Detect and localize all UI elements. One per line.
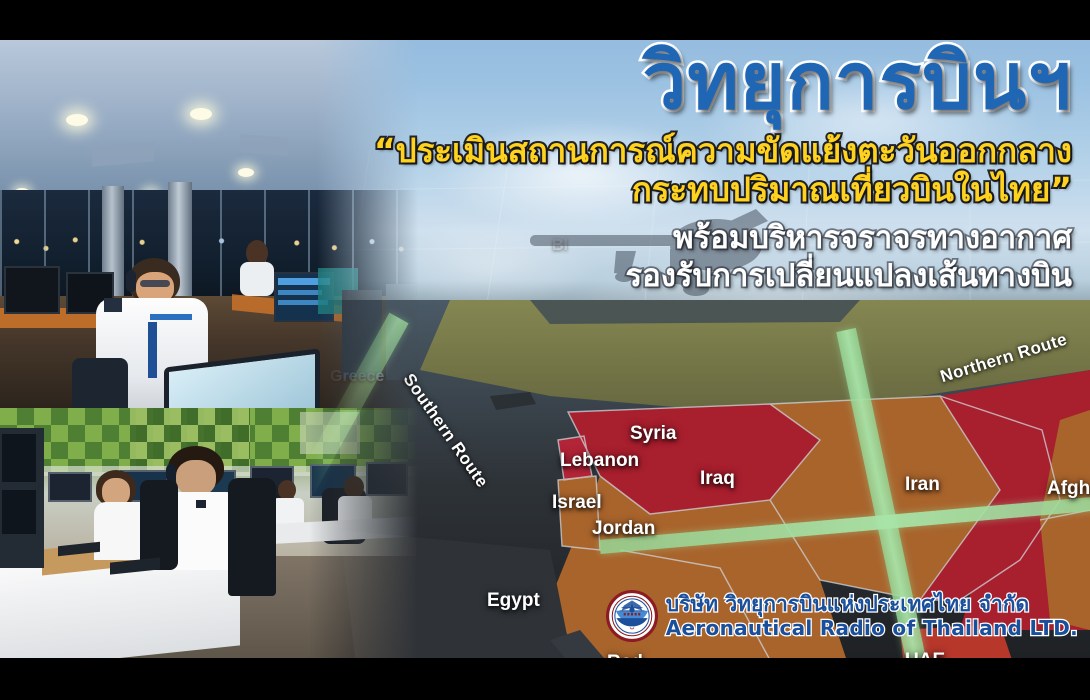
headline-block: วิทยุการบินฯ “ประเมินสถานการณ์ความขัดแย้… — [372, 44, 1072, 295]
air-traffic-control-tower-photo — [0, 40, 418, 410]
aerothai-logo-lockup: บริษัท วิทยุการบินแห่งประเทศไทย จำกัด Ae… — [606, 590, 1078, 642]
logo-thai-name: บริษัท วิทยุการบินแห่งประเทศไทย จำกัด — [666, 592, 1078, 616]
map-label-israel: Israel — [552, 492, 602, 514]
map-label-iran: Iran — [905, 474, 940, 496]
headline-sub-line-1: พร้อมบริหารจราจรทางอากาศ — [372, 220, 1072, 257]
map-label-syria: Syria — [630, 423, 676, 445]
map-label-afghanistan: Afghan — [1047, 478, 1090, 500]
banner-stage: Southern Route Northern Route Greece Syr… — [0, 0, 1090, 700]
map-label-egypt: Egypt — [487, 590, 540, 612]
letterbox-bar-bottom — [0, 658, 1090, 700]
area-control-center-photo — [0, 408, 418, 658]
headline-quote-line-2: กระทบปริมาณเที่ยวบินในไทย” — [372, 171, 1072, 210]
map-label-iraq: Iraq — [700, 468, 735, 490]
letterbox-bar-top — [0, 0, 1090, 40]
map-label-lebanon: Lebanon — [560, 450, 639, 472]
headline-sub-line-2: รองรับการเปลี่ยนแปลงเส้นทางบิน — [372, 258, 1072, 295]
map-label-jordan: Jordan — [592, 518, 655, 540]
headline-quote-line-1: “ประเมินสถานการณ์ความขัดแย้งตะวันออกกลาง — [372, 132, 1072, 171]
aerothai-emblem-icon — [606, 590, 658, 642]
logo-english-name: Aeronautical Radio of Thailand LTD. — [666, 617, 1078, 640]
page-title: วิทยุการบินฯ — [372, 44, 1072, 120]
